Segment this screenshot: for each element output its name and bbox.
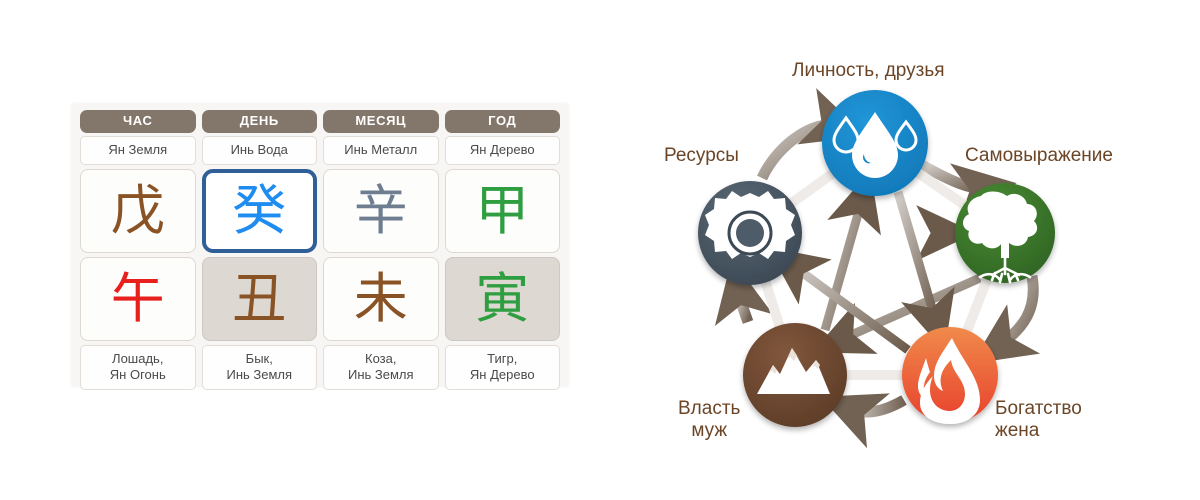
earthly-branch-row: 午 丑 未 寅 [80,257,560,341]
stem-name-cell-hour: Ян Земля [80,136,196,165]
branch-glyph-day[interactable]: 丑 [202,257,318,341]
pillar-column-day: ДЕНЬ [202,110,318,133]
element-node-water[interactable] [822,90,928,196]
branch-cell-year: 寅 [445,257,561,341]
stem-cell-year: 甲 [445,169,561,253]
arrow-wood-to-fire [998,276,1033,346]
branch-name-cell-day: Бык, Инь Земля [202,345,318,391]
branch-name-month: Коза, Инь Земля [323,345,439,391]
element-node-wood[interactable] [955,183,1055,283]
stem-name-month: Инь Металл [323,136,439,165]
stem-glyph-day-selected[interactable]: 癸 [202,169,318,253]
arrow-fire-to-earth [850,400,904,412]
pillar-column-hour: ЧАС [80,110,196,133]
label-wood: Самовыражение [965,145,1113,167]
pillar-header-year[interactable]: ГОД [445,110,561,133]
arrow-earth-to-metal [738,290,748,322]
label-fire: Богатство жена [995,398,1082,442]
pillar-column-year: ГОД [445,110,561,133]
stem-cell-day: 癸 [202,169,318,253]
branch-cell-hour: 午 [80,257,196,341]
five-elements-diagram: Личность, друзья Ресурсы Самовыражение В… [640,0,1200,500]
pillar-header-row: ЧАС ДЕНЬ МЕСЯЦ ГОД [80,110,560,133]
stem-name-cell-year: Ян Дерево [445,136,561,165]
pillar-header-month[interactable]: МЕСЯЦ [323,110,439,133]
element-node-metal[interactable] [698,181,802,285]
pillar-header-hour[interactable]: ЧАС [80,110,196,133]
branch-name-year: Тигр, Ян Дерево [445,345,561,391]
branch-name-hour: Лошадь, Ян Огонь [80,345,196,391]
label-earth: Власть муж [678,398,740,442]
branch-glyph-hour[interactable]: 午 [80,257,196,341]
branch-name-cell-hour: Лошадь, Ян Огонь [80,345,196,391]
heavenly-stem-row: 戊 癸 辛 甲 [80,169,560,253]
pillar-header-day[interactable]: ДЕНЬ [202,110,318,133]
branch-cell-month: 未 [323,257,439,341]
stem-name-hour: Ян Земля [80,136,196,165]
branch-cell-day: 丑 [202,257,318,341]
branch-glyph-month[interactable]: 未 [323,257,439,341]
branch-glyph-year[interactable]: 寅 [445,257,561,341]
stem-cell-hour: 戊 [80,169,196,253]
branch-name-cell-month: Коза, Инь Земля [323,345,439,391]
element-node-earth[interactable] [743,323,847,427]
stem-glyph-month[interactable]: 辛 [323,169,439,253]
branch-name-row: Лошадь, Ян Огонь Бык, Инь Земля Коза, Ин… [80,345,560,391]
label-metal: Ресурсы [664,145,739,167]
stem-name-year: Ян Дерево [445,136,561,165]
branch-name-cell-year: Тигр, Ян Дерево [445,345,561,391]
stem-name-row: Ян Земля Инь Вода Инь Металл Ян Дерево [80,136,560,165]
stem-glyph-hour[interactable]: 戊 [80,169,196,253]
branch-name-day: Бык, Инь Земля [202,345,318,391]
controlling-cycle-arrows [792,192,980,350]
stem-glyph-year[interactable]: 甲 [445,169,561,253]
stem-cell-month: 辛 [323,169,439,253]
stem-name-cell-day: Инь Вода [202,136,318,165]
label-water: Личность, друзья [792,60,945,82]
stem-name-day: Инь Вода [202,136,318,165]
element-node-fire[interactable] [902,327,998,424]
gear-hub [736,219,764,247]
pillar-column-month: МЕСЯЦ [323,110,439,133]
bazi-chart-panel: ЧАС ДЕНЬ МЕСЯЦ ГОД Ян Земля Инь Вода Инь… [72,104,568,386]
stem-name-cell-month: Инь Металл [323,136,439,165]
